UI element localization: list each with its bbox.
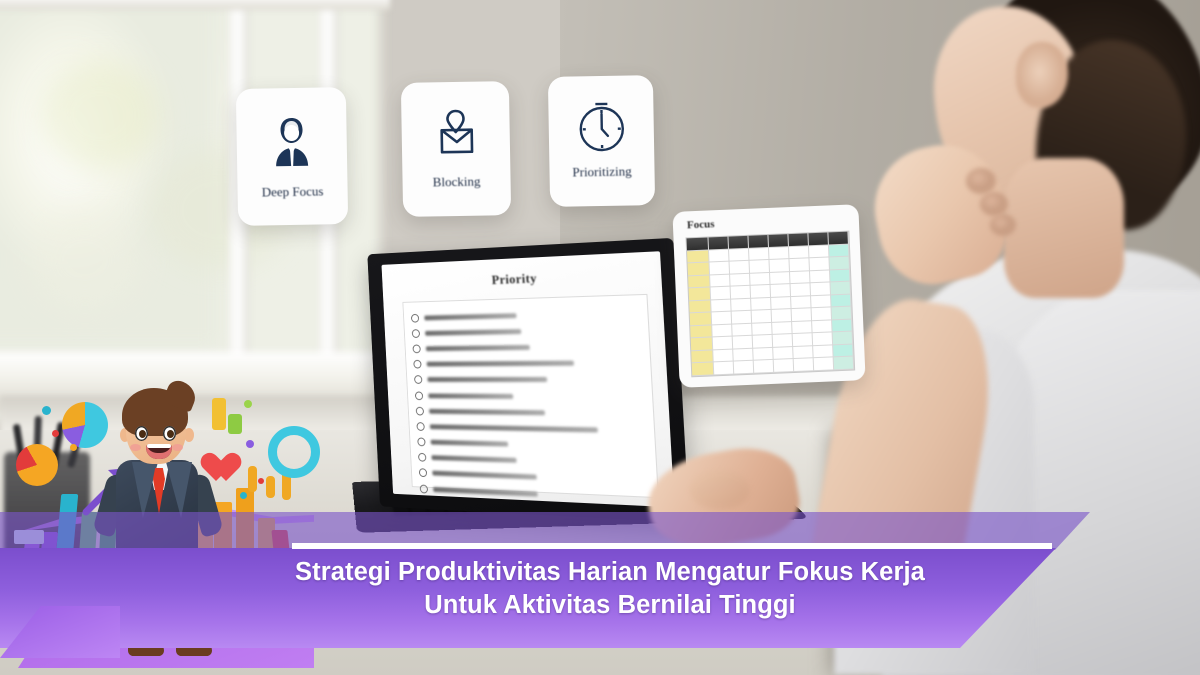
checkbox-icon[interactable] [415,391,423,400]
spreadsheet-cell[interactable] [729,248,750,261]
spreadsheet-title: Focus [687,218,715,231]
spreadsheet-cell[interactable] [730,261,751,274]
feature-card-prioritizing[interactable]: Prioritizing [548,75,655,207]
spreadsheet-cell[interactable] [750,273,771,286]
spreadsheet-cell[interactable] [711,287,732,300]
mascot-pupil [167,430,174,438]
spreadsheet-cell[interactable] [789,258,810,271]
feature-card-deep-focus[interactable]: Deep Focus [236,87,348,226]
person-knuckle [966,168,996,194]
checkbox-icon[interactable] [419,469,427,478]
screenshot-canvas: Priority Deep Focus [0,0,1200,675]
spreadsheet-header-cell[interactable] [808,232,829,245]
checklist-item-label [426,345,530,351]
checkbox-icon[interactable] [416,407,424,416]
spreadsheet-cell[interactable] [772,309,793,322]
spreadsheet-cell[interactable] [754,360,775,373]
spreadsheet-cell[interactable] [731,286,752,299]
spreadsheet-cell[interactable] [774,359,795,372]
checklist-item-label [424,313,516,320]
spreadsheet-cell[interactable] [772,322,793,335]
envelope-mail-icon [401,103,510,167]
spreadsheet-cell[interactable] [752,310,773,323]
checkbox-icon[interactable] [417,438,425,447]
candlestick-bar [248,466,257,492]
spreadsheet-header-cell[interactable] [728,236,749,249]
spreadsheet-cell[interactable] [731,298,752,311]
spreadsheet-row-label[interactable] [687,250,710,263]
spreadsheet-cell[interactable] [810,270,831,283]
spreadsheet-cell[interactable] [769,259,790,272]
spreadsheet-cell[interactable] [734,361,755,374]
spreadsheet-highlight-cell[interactable] [829,244,850,257]
checklist-item-label [428,393,513,398]
spreadsheet-highlight-cell[interactable] [830,282,851,295]
laptop-lid: Priority [367,238,689,523]
checkbox-icon[interactable] [418,453,426,462]
banner-divider-rule [292,543,1052,549]
mascot-cheek [130,444,141,451]
spreadsheet-cell[interactable] [789,246,810,259]
spreadsheet-cell[interactable] [790,271,811,284]
spreadsheet-cell[interactable] [769,247,790,260]
pie-chart-icon [16,444,58,486]
spreadsheet-cell[interactable] [751,298,772,311]
checkbox-icon[interactable] [412,329,420,338]
spreadsheet-header-cell[interactable] [768,234,789,247]
screen-checklist [402,294,659,498]
spreadsheet-cell[interactable] [732,311,753,324]
clock-icon [548,95,654,159]
checklist-item[interactable] [413,354,642,372]
spreadsheet-cell[interactable] [773,347,794,360]
window-foliage [30,210,140,310]
spreadsheet-cell[interactable] [811,283,832,296]
accent-dot [246,440,254,448]
yellow-bar-icon [212,398,226,430]
businessman-avatar-icon [236,109,347,173]
feature-card-label: Prioritizing [549,163,654,181]
feature-card-label: Blocking [402,173,510,191]
checklist-item-label [433,487,538,497]
spreadsheet-grid [685,231,855,378]
spreadsheet-cell[interactable] [753,335,774,348]
spreadsheet-header-cell[interactable] [687,237,710,250]
mascot-pupil [139,430,146,438]
spreadsheet-header-cell[interactable] [788,233,809,246]
spreadsheet-cell[interactable] [712,312,733,325]
spreadsheet-row-label[interactable] [692,363,715,376]
accent-dot [70,444,77,451]
spreadsheet-cell[interactable] [711,299,732,312]
spreadsheet-cell[interactable] [773,334,794,347]
spreadsheet-cell[interactable] [714,362,735,375]
spreadsheet-highlight-cell[interactable] [832,319,853,332]
spreadsheet-cell[interactable] [753,348,774,361]
feature-card-blocking[interactable]: Blocking [401,81,511,217]
page-title-line-2: Untuk Aktivitas Bernilai Tinggi [230,589,990,622]
accent-dot [42,406,51,415]
checklist-item-label [432,471,537,480]
spreadsheet-cell[interactable] [732,324,753,337]
spreadsheet-row-label[interactable] [691,350,714,363]
spreadsheet-cell[interactable] [809,245,830,258]
page-title-line-1: Strategi Produktivitas Harian Mengatur F… [230,556,990,589]
person-fingers [690,470,750,510]
spreadsheet-cell[interactable] [712,324,733,337]
spreadsheet-cell[interactable] [750,260,771,273]
checkbox-icon[interactable] [416,422,424,431]
checklist-item-label [431,455,516,463]
spreadsheet-header-cell[interactable] [828,232,849,245]
accent-dot [258,478,264,484]
spreadsheet-cell[interactable] [770,272,791,285]
spreadsheet-cell[interactable] [713,349,734,362]
checkbox-icon[interactable] [412,344,420,353]
spreadsheet-cell[interactable] [791,283,812,296]
heart-icon [208,454,242,485]
checklist-item-label [425,329,521,336]
mascot-eyebrow [135,420,149,424]
page-title: Strategi Produktivitas Harian Mengatur F… [230,556,990,622]
spreadsheet-cell[interactable] [794,359,815,372]
spreadsheet-row-label[interactable] [690,325,713,338]
accent-dot [52,430,59,437]
spreadsheet-header-cell[interactable] [708,237,729,250]
spreadsheet-cell[interactable] [771,284,792,297]
spreadsheet-highlight-cell[interactable] [833,344,854,357]
green-bar-icon [228,414,242,434]
person-knuckle [990,214,1016,236]
spreadsheet-card[interactable]: Focus [672,204,865,388]
mascot-cheek [172,444,183,451]
checkbox-icon[interactable] [414,376,422,385]
spreadsheet-cell[interactable] [709,249,730,262]
checklist-item-label [429,409,545,415]
person-knuckle [980,192,1008,216]
spreadsheet-cell[interactable] [809,258,830,271]
accent-dot [244,400,252,408]
pie-chart-icon [62,402,108,448]
spreadsheet-row-label[interactable] [688,263,711,276]
spreadsheet-cell[interactable] [792,321,813,334]
spreadsheet-cell[interactable] [771,297,792,310]
window-frame-top [0,0,390,10]
spreadsheet-cell[interactable] [730,273,751,286]
spreadsheet-cell[interactable] [813,345,834,358]
mascot-teeth [147,444,171,448]
spreadsheet-row-label[interactable] [689,288,712,301]
spreadsheet-cell[interactable] [749,247,770,260]
checklist-item-label [431,440,509,447]
spreadsheet-cell[interactable] [793,346,814,359]
spreadsheet-cell[interactable] [733,349,754,362]
accent-dot [240,492,247,499]
person-neck [1004,158,1124,298]
spreadsheet-cell[interactable] [791,296,812,309]
checklist-item[interactable] [414,371,643,388]
spreadsheet-row-label[interactable] [689,300,712,313]
spreadsheet-row-label[interactable] [691,338,714,351]
spreadsheet-cell[interactable] [751,285,772,298]
checklist-item-label [430,424,598,432]
spreadsheet-cell[interactable] [793,334,814,347]
spreadsheet-cell[interactable] [813,333,834,346]
checkbox-icon[interactable] [420,484,428,493]
feature-card-label: Deep Focus [237,183,347,201]
mascot-eyebrow [164,420,178,424]
spreadsheet-header-cell[interactable] [748,235,769,248]
checklist-item-label [427,361,574,367]
screen-title: Priority [382,265,662,292]
checkbox-icon[interactable] [413,360,421,369]
candlestick-bar [266,476,275,498]
spreadsheet-row-label[interactable] [690,313,713,326]
spreadsheet-cell[interactable] [812,320,833,333]
laptop-screen: Priority [381,251,674,507]
window-foliage [40,60,160,170]
spreadsheet-row-label[interactable] [688,275,711,288]
spreadsheet-cell[interactable] [733,336,754,349]
spreadsheet-cell[interactable] [752,323,773,336]
spreadsheet-highlight-cell[interactable] [829,257,850,270]
spreadsheet-cell[interactable] [710,262,731,275]
spreadsheet-cell[interactable] [812,308,833,321]
donut-ring-icon [268,426,320,478]
spreadsheet-highlight-cell[interactable] [831,294,852,307]
spreadsheet-cell[interactable] [811,295,832,308]
spreadsheet-cell[interactable] [710,274,731,287]
spreadsheet-cell[interactable] [814,358,835,371]
checkbox-icon[interactable] [411,313,419,322]
spreadsheet-cell[interactable] [792,308,813,321]
spreadsheet-highlight-cell[interactable] [830,269,851,282]
spreadsheet-highlight-cell[interactable] [834,357,855,370]
spreadsheet-highlight-cell[interactable] [832,307,853,320]
spreadsheet-highlight-cell[interactable] [833,332,854,345]
spreadsheet-cell[interactable] [713,337,734,350]
checklist-item-label [427,377,547,382]
